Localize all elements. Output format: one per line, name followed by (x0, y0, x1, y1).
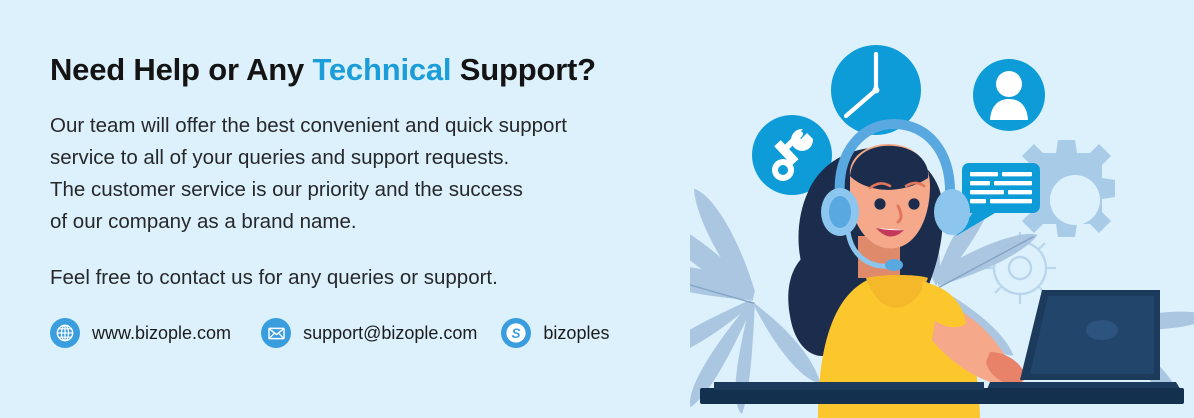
contact-item-website[interactable]: www.bizople.com (50, 318, 231, 348)
svg-text:S: S (512, 326, 521, 341)
user-avatar-icon (973, 59, 1045, 131)
support-banner: Need Help or Any Technical Support? Our … (0, 0, 1194, 418)
skype-icon: S (501, 318, 531, 348)
headline-accent: Technical (312, 52, 451, 87)
body-paragraph: Our team will offer the best convenient … (50, 110, 750, 238)
contact-label-website: www.bizople.com (92, 323, 231, 344)
body-line: Our team will offer the best convenient … (50, 110, 750, 142)
body-line: The customer service is our priority and… (50, 174, 750, 206)
headline-part1: Need Help or Any (50, 52, 312, 87)
support-illustration (690, 0, 1194, 418)
contact-item-email[interactable]: support@bizople.com (261, 318, 477, 348)
closing-paragraph: Feel free to contact us for any queries … (50, 262, 750, 294)
headline-part2: Support? (451, 52, 596, 87)
text-column: Need Help or Any Technical Support? Our … (50, 52, 750, 294)
envelope-icon (261, 318, 291, 348)
desk-edge (714, 382, 984, 390)
closing-line: Feel free to contact us for any queries … (50, 262, 750, 294)
page-title: Need Help or Any Technical Support? (50, 52, 750, 88)
contact-label-email: support@bizople.com (303, 323, 477, 344)
body-line: service to all of your queries and suppo… (50, 142, 750, 174)
body-line: of our company as a brand name. (50, 206, 750, 238)
contact-item-skype[interactable]: S bizoples (501, 318, 609, 348)
desk (700, 388, 1184, 404)
contact-row: www.bizople.com support@bizople.com S (50, 318, 633, 348)
contact-label-skype: bizoples (543, 323, 609, 344)
globe-icon (50, 318, 80, 348)
